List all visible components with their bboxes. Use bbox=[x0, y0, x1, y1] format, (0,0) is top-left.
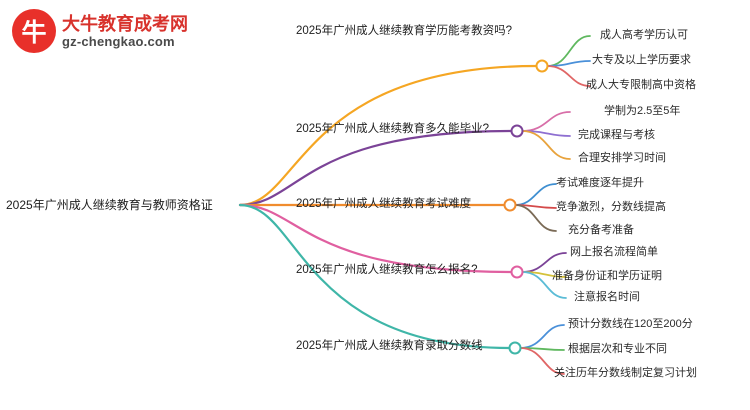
leaf-label-4-3: 注意报名时间 bbox=[574, 290, 640, 304]
leaf-label-4-1: 网上报名流程简单 bbox=[570, 245, 658, 259]
mindmap-canvas: 牛 大牛教育成考网 gz-chengkao.com bbox=[0, 0, 750, 410]
leaf-label-2-2: 完成课程与考核 bbox=[578, 128, 655, 142]
leaf-label-5-2: 根据层次和专业不同 bbox=[568, 342, 667, 356]
leaf-label-2-3: 合理安排学习时间 bbox=[578, 151, 666, 165]
branch-label-2: 2025年广州成人继续教育多久能毕业? bbox=[296, 122, 489, 136]
leaf-label-3-3: 充分备考准备 bbox=[568, 223, 634, 237]
branch-label-5: 2025年广州成人继续教育录取分数线 bbox=[296, 339, 483, 353]
branch-label-3: 2025年广州成人继续教育考试难度 bbox=[296, 197, 471, 211]
leaf-label-4-2: 准备身份证和学历证明 bbox=[552, 269, 662, 283]
branch-label-4: 2025年广州成人继续教育怎么报名? bbox=[296, 263, 477, 277]
root-node-label: 2025年广州成人继续教育与教师资格证 bbox=[6, 198, 213, 212]
leaf-label-5-3: 关注历年分数线制定复习计划 bbox=[554, 366, 697, 380]
branch-label-1: 2025年广州成人继续教育学历能考教资吗? bbox=[296, 24, 512, 38]
leaf-label-5-1: 预计分数线在120至200分 bbox=[568, 317, 693, 331]
leaf-label-1-1: 成人高考学历认可 bbox=[600, 28, 688, 42]
leaf-label-1-2: 大专及以上学历要求 bbox=[592, 53, 691, 67]
leaf-label-1-3: 成人大专限制高中资格 bbox=[586, 78, 696, 92]
leaf-label-3-2: 竞争激烈，分数线提高 bbox=[556, 200, 666, 214]
leaf-label-2-1: 学制为2.5至5年 bbox=[604, 104, 680, 118]
leaf-label-3-1: 考试难度逐年提升 bbox=[556, 176, 644, 190]
